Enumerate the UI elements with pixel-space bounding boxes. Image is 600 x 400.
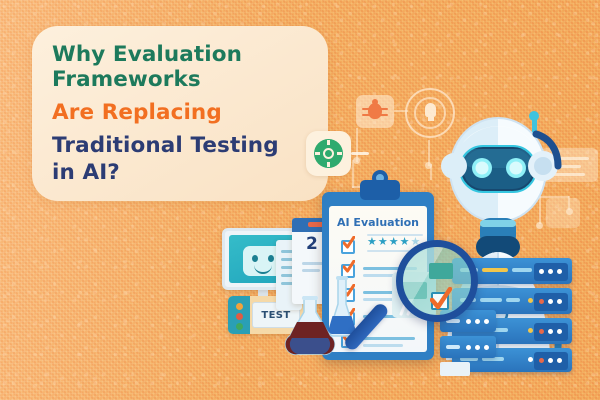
clipboard-clip xyxy=(360,180,400,200)
server-rack-small xyxy=(440,336,496,358)
headline-line-4: Traditional Testing in AI? xyxy=(52,132,308,186)
magnified-envelope-icon xyxy=(429,263,453,279)
clipboard-title: AI Evaluation xyxy=(329,216,427,229)
headline-line-2: Frameworks xyxy=(52,67,308,92)
document-card-number: 2 xyxy=(306,234,318,254)
magnifier-icon xyxy=(396,240,478,322)
server-rack-end xyxy=(534,263,568,281)
infographic-canvas: TEST 2 AI Evaluation ★ ★ ★ ★ xyxy=(0,0,600,400)
bug-icon-chip xyxy=(356,95,394,128)
headline-line-1: Why Evaluation xyxy=(52,42,308,67)
test-device-panel xyxy=(228,296,250,334)
flask-large xyxy=(282,296,338,356)
headline-line-3: Are Replacing xyxy=(52,99,308,126)
magnified-check-icon xyxy=(430,287,452,311)
bug-icon xyxy=(368,103,382,119)
lightbulb-icon xyxy=(425,103,436,117)
headline-card: Why Evaluation Frameworks Are Replacing … xyxy=(32,26,328,201)
check-icon xyxy=(343,236,355,250)
target-icon-badge xyxy=(306,131,351,176)
check-icon xyxy=(343,260,355,274)
server-base xyxy=(440,362,470,376)
